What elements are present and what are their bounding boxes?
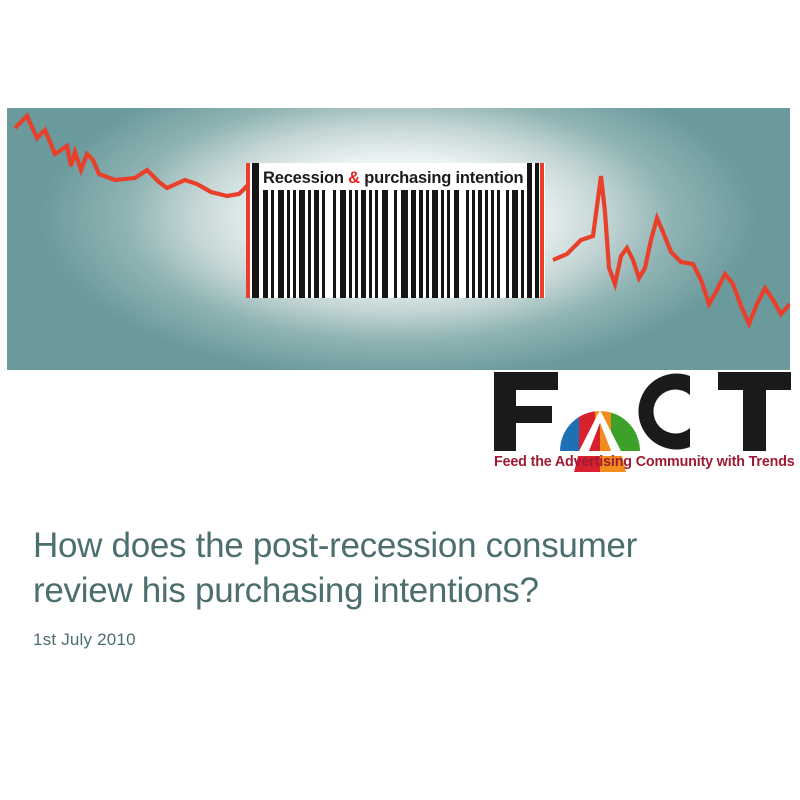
logo-letter-f-shape bbox=[494, 372, 558, 451]
presentation-date: 1st July 2010 bbox=[33, 630, 136, 650]
logo-letter-t-shape bbox=[718, 372, 791, 451]
fact-logo: Feed the Advertising Community with Tren… bbox=[490, 366, 795, 479]
page-title-line-1: How does the post-recession consumer bbox=[33, 523, 763, 568]
barcode-caption-ampersand: & bbox=[348, 169, 360, 187]
recession-barcode: Recession & purchasing intention bbox=[241, 163, 553, 298]
page-title-line-2: review his purchasing intentions? bbox=[33, 568, 763, 613]
fact-logo-tagline: Feed the Advertising Community with Tren… bbox=[494, 454, 794, 470]
barcode-caption-after: purchasing intention bbox=[360, 169, 524, 187]
logo-letter-c-shape bbox=[638, 374, 690, 450]
banner-right-trend-line bbox=[553, 176, 790, 324]
barcode-caption-text: Recession & purchasing intention bbox=[263, 167, 535, 189]
barcode-caption-before: Recession bbox=[263, 169, 348, 187]
banner-left-trend-line bbox=[15, 116, 277, 208]
page-title: How does the post-recession consumer rev… bbox=[33, 523, 763, 613]
